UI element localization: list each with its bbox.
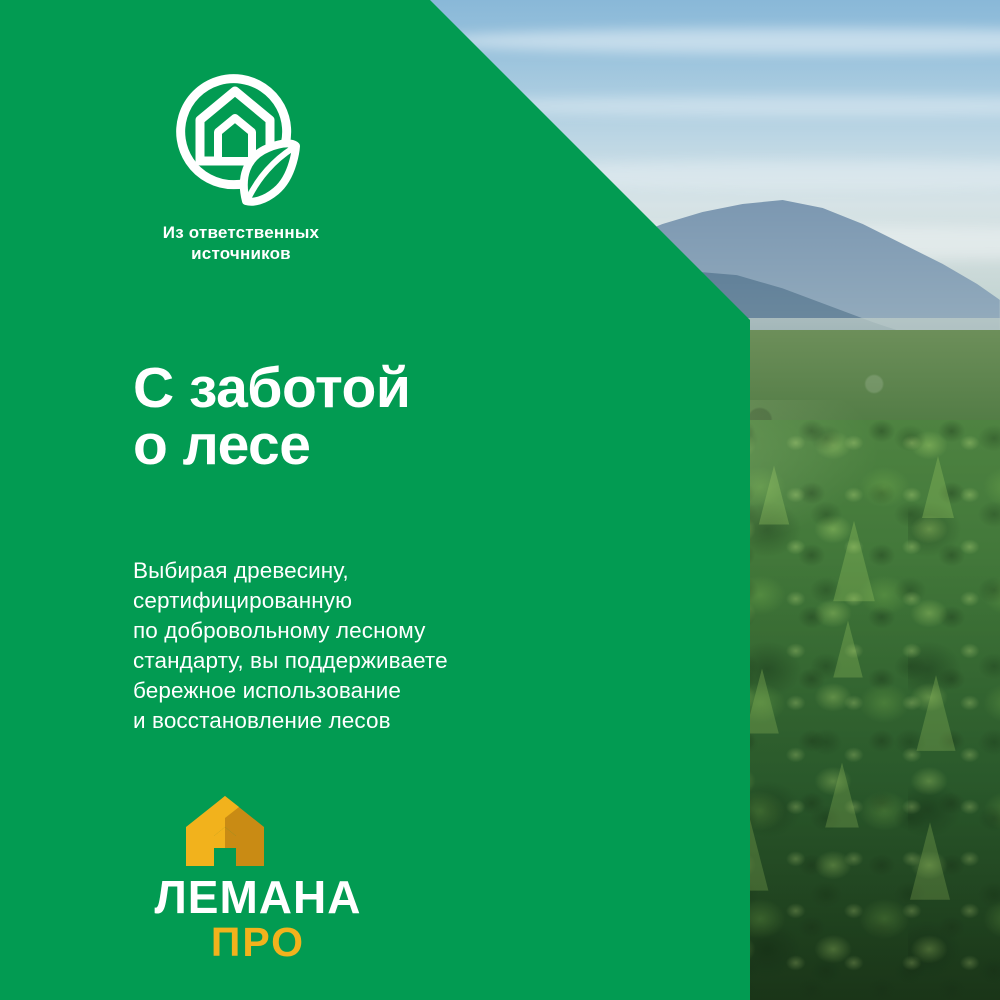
house-leaf-circle-icon xyxy=(160,58,310,208)
lemana-pro-logo: ЛЕМАНА ПРО xyxy=(133,792,383,963)
body-copy: Выбирая древесину, сертифицированную по … xyxy=(133,556,448,736)
badge-caption-line2: источников xyxy=(126,243,356,264)
lemana-house-icon xyxy=(182,792,268,870)
headline: С заботой о лесе xyxy=(133,360,410,474)
brand-name: ЛЕМАНА xyxy=(133,874,383,920)
badge-caption: Из ответственных источников xyxy=(126,222,356,264)
poster: Из ответственных источников С заботой о … xyxy=(0,0,1000,1000)
brand-suffix: ПРО xyxy=(133,922,383,963)
responsible-sources-badge: Из ответственных источников xyxy=(126,58,356,264)
badge-caption-line1: Из ответственных xyxy=(126,222,356,243)
